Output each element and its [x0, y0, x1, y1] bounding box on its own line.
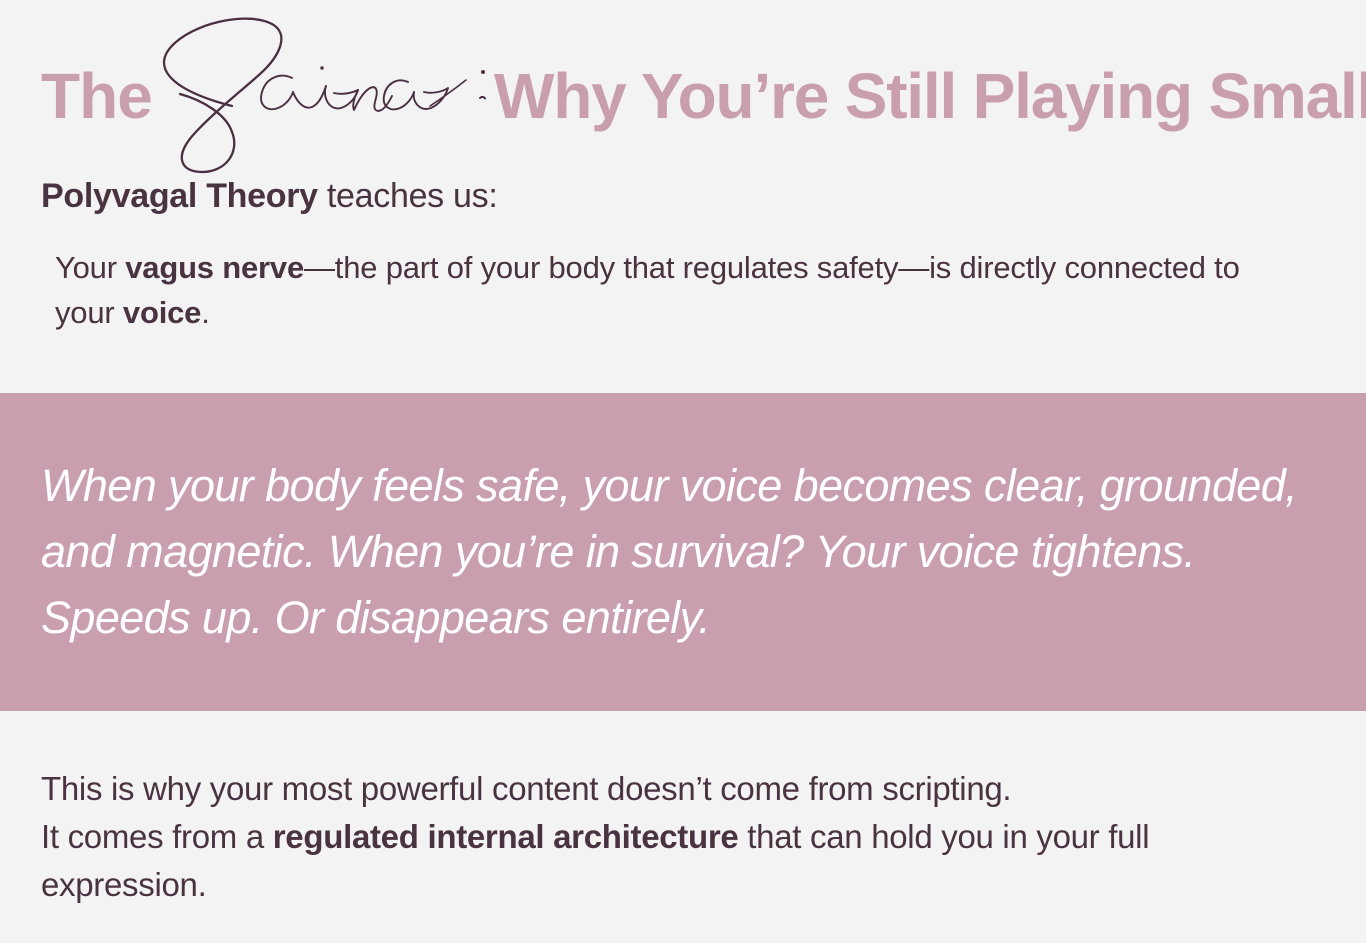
title-rest-text: Why You’re Still Playing Small — [494, 64, 1366, 128]
sub-part3: . — [201, 295, 209, 330]
slide-root: The Science — [0, 0, 1366, 943]
page-title: The Science — [0, 0, 1366, 178]
closing-bold-architecture: regulated internal architecture — [273, 818, 739, 855]
closing-part2: It comes from a — [41, 818, 273, 855]
closing-part1: This is why your most powerful content d… — [41, 770, 1011, 807]
closing-paragraph: This is why your most powerful content d… — [0, 765, 1366, 909]
title-lead-word: The — [41, 64, 152, 128]
highlight-quote-text: When your body feels safe, your voice be… — [0, 453, 1366, 651]
sub-bold-vagus-nerve: vagus nerve — [125, 250, 304, 285]
lead-bold: Polyvagal Theory — [41, 177, 318, 215]
sub-paragraph: Your vagus nerve—the part of your body t… — [0, 246, 1366, 336]
highlight-band: When your body feels safe, your voice be… — [0, 393, 1366, 711]
title-script-word-science: Science — [140, 0, 520, 184]
lead-rest: teaches us: — [318, 177, 498, 215]
sub-bold-voice: voice — [123, 295, 201, 330]
lead-line: Polyvagal Theory teaches us: — [0, 178, 1366, 215]
sub-part1: Your — [55, 250, 125, 285]
